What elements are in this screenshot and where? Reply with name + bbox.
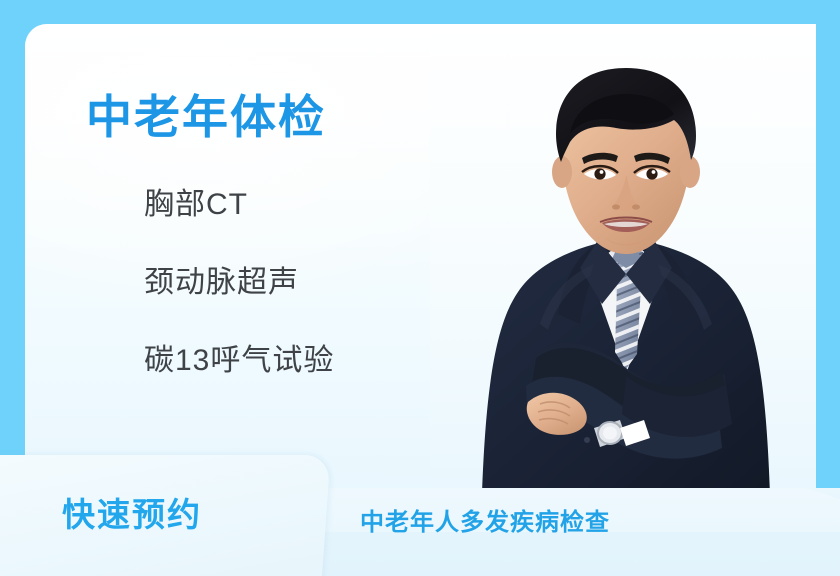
quick-booking-label[interactable]: 快速预约 <box>62 498 202 531</box>
frame-strip-left <box>0 0 25 456</box>
frame-strip-top <box>0 0 840 24</box>
feature-item-1: 胸部CT <box>144 190 464 220</box>
feature-item-2: 颈动脉超声 <box>144 268 464 298</box>
feature-list: 胸部CT 颈动脉超声 碳13呼气试验 <box>144 190 464 376</box>
model-photo-illustration <box>430 24 816 494</box>
page-title: 中老年体检 <box>86 94 326 140</box>
promo-banner: 中老年体检 胸部CT 颈动脉超声 碳13呼气试验 快速预约 中老年人多发疾病检查 <box>0 0 840 576</box>
feature-item-3: 碳13呼气试验 <box>144 346 464 376</box>
tagline: 中老年人多发疾病检查 <box>360 511 610 535</box>
model-photo <box>430 24 816 494</box>
frame-strip-right <box>816 0 840 492</box>
